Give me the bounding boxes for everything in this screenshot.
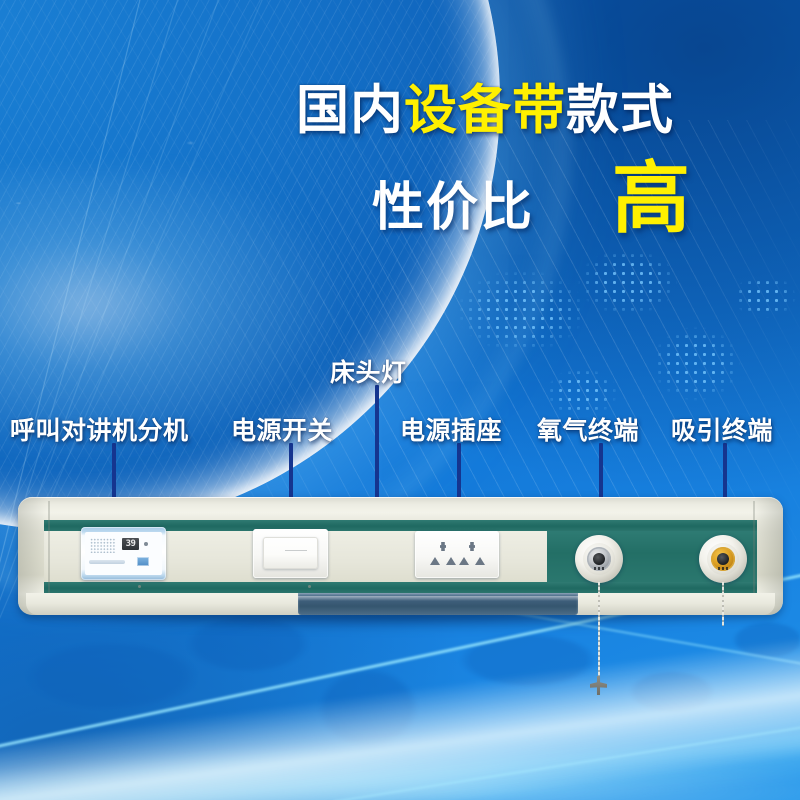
socket-pin-right-icon <box>446 557 456 565</box>
callout-label-oxygen: 氧气终端 <box>537 418 639 443</box>
oxygen-terminal-face <box>587 547 611 571</box>
callout-label-socket: 电源插座 <box>400 418 502 443</box>
bottom-glow <box>0 745 800 800</box>
intercom-display: 39 <box>122 538 139 550</box>
socket-outlet-right[interactable] <box>457 542 487 568</box>
oxygen-terminal-port-icon <box>593 553 605 565</box>
panel-screw-1 <box>138 585 141 588</box>
switch-rocker[interactable] <box>263 537 318 569</box>
suction-terminal-outlet[interactable] <box>699 535 747 583</box>
suction-terminal-face <box>711 547 735 571</box>
headline-seg-1: 国内 <box>296 84 404 137</box>
panel-blue-strip-gloss <box>298 596 578 601</box>
headline-line-2: 性价比 高 <box>372 160 690 238</box>
oxygen-terminal-outlet[interactable] <box>575 535 623 583</box>
headline-subtitle: 性价比 <box>372 182 534 234</box>
panel-screw-2 <box>308 585 311 588</box>
light-sweep-2 <box>0 688 800 800</box>
intercom-led-icon <box>144 542 148 546</box>
switch-label-line <box>285 550 307 551</box>
oxygen-terminal-marking <box>594 567 604 570</box>
suction-probe-cord <box>722 582 724 626</box>
socket-pin-left-icon <box>430 557 440 565</box>
nurse-call-intercom-unit[interactable]: 39 <box>81 527 166 580</box>
suction-terminal-marking <box>718 567 728 570</box>
callout-label-suction: 吸引终端 <box>671 418 773 443</box>
headline-line-1: 国内 设备带 款式 <box>296 84 674 137</box>
oxygen-probe-cord <box>598 582 600 678</box>
headline-seg-3: 款式 <box>566 84 674 137</box>
callout-label-switch: 电源开关 <box>231 418 333 443</box>
socket-outlet-left[interactable] <box>428 542 458 568</box>
power-switch-unit[interactable] <box>253 529 328 578</box>
panel-stripe-bottom <box>44 582 757 593</box>
intercom-microphone-slot <box>89 560 125 564</box>
headline-seg-2: 设备带 <box>404 84 566 137</box>
intercom-call-button[interactable] <box>137 557 149 566</box>
suction-terminal-port-icon <box>717 553 729 565</box>
socket-pin-right-icon <box>475 557 485 565</box>
socket-earth-pin-icon <box>440 542 446 551</box>
oxygen-probe-connector-icon <box>590 676 607 695</box>
headline-highlight: 高 <box>612 160 690 238</box>
callout-label-intercom: 呼叫对讲机分机 <box>10 418 189 443</box>
light-ray-3 <box>333 719 800 800</box>
advertisement-banner: 国内 设备带 款式 性价比 高 呼叫对讲机分机 电源开关 床头灯 电源插座 氧气… <box>0 0 800 800</box>
socket-earth-pin-icon <box>469 542 475 551</box>
socket-pin-left-icon <box>459 557 469 565</box>
power-socket-unit[interactable] <box>415 531 499 578</box>
speaker-grille-icon <box>90 538 116 553</box>
light-sweep-1 <box>0 622 800 800</box>
callout-label-bed-lamp: 床头灯 <box>330 360 407 385</box>
